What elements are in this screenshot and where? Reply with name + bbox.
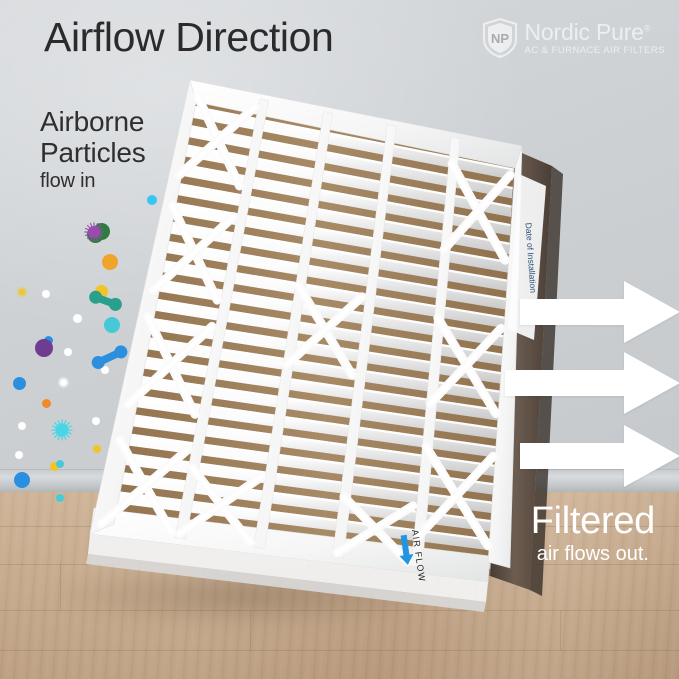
registered-mark: ® xyxy=(644,23,650,33)
particle-dot xyxy=(18,288,26,296)
airflow-arrow-2 xyxy=(505,352,679,414)
particle-dot xyxy=(14,472,30,488)
particle-dot xyxy=(42,290,50,298)
brand-logo: NP Nordic Pure® AC & FURNACE AIR FILTERS xyxy=(482,18,665,58)
particle-dot xyxy=(42,399,51,408)
shield-icon: NP xyxy=(482,18,518,58)
shield-initials: NP xyxy=(490,31,508,46)
brand-tagline: AC & FURNACE AIR FILTERS xyxy=(525,46,665,56)
filtered-line-2: air flows out. xyxy=(531,542,655,566)
callout-line-1: Airborne xyxy=(40,106,144,137)
callout-line-3: flow in xyxy=(40,170,146,193)
filtered-air-callout: Filtered air flows out. xyxy=(531,500,655,566)
brand-name: Nordic Pure® xyxy=(525,21,665,44)
brand-name-text: Nordic Pure xyxy=(525,19,644,45)
airflow-arrow-3 xyxy=(520,425,679,487)
airflow-arrow-1 xyxy=(520,281,679,343)
particle-dot xyxy=(18,422,26,430)
particle-dot xyxy=(35,339,53,357)
page-title: Airflow Direction xyxy=(44,14,333,61)
scene-root: Date of Installation AIR FLOW Airflow Di… xyxy=(0,0,679,679)
filtered-line-1: Filtered xyxy=(531,500,655,542)
brand-text-block: Nordic Pure® AC & FURNACE AIR FILTERS xyxy=(525,21,665,56)
particle-dot xyxy=(15,451,23,459)
callout-line-2: Particles xyxy=(40,137,146,168)
particle-dot xyxy=(13,377,26,390)
airborne-particles-callout: Airborne Particles flow in xyxy=(40,106,146,193)
